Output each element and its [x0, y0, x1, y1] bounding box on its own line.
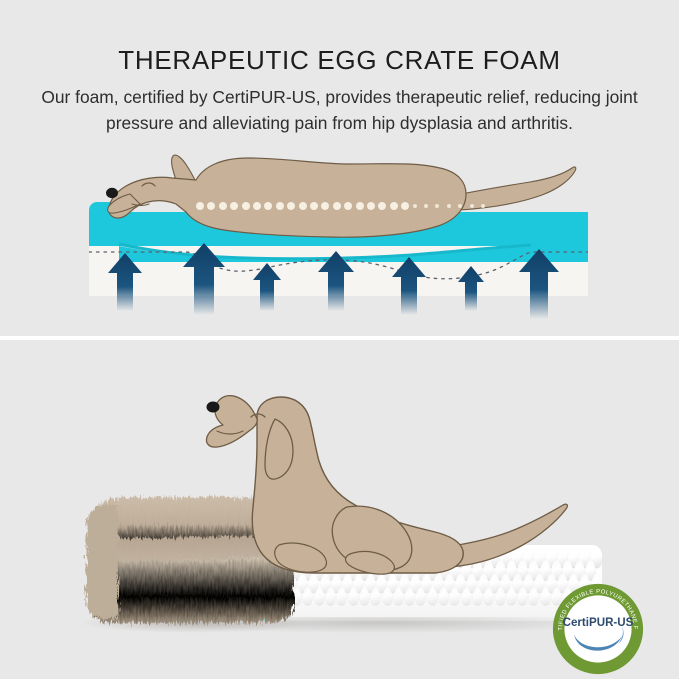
dog-resting-illustration [195, 395, 615, 610]
spine-dot [390, 202, 398, 210]
pressure-arrow-3 [253, 263, 281, 311]
spine-dot [242, 202, 250, 210]
spine-dot [458, 204, 462, 208]
bed-shadow [78, 617, 308, 633]
spine-dot [378, 202, 386, 210]
spine-dot [413, 204, 417, 208]
spine-dot [196, 202, 204, 210]
section-improved-ventilation: IMPROVED VENTILATION [0, 340, 679, 679]
dog-nose [106, 188, 118, 198]
spine-dot [470, 204, 474, 208]
pressure-arrow-1 [108, 253, 142, 311]
certipur-us-seal: CERTIFIED FLEXIBLE POLYURETHANE FOAM www… [552, 583, 644, 675]
pressure-arrow-6 [458, 266, 484, 311]
spine-dot [356, 202, 364, 210]
illustration-gel-foam-cross-section [0, 150, 679, 325]
page-title: THERAPEUTIC EGG CRATE FOAM [0, 45, 679, 76]
spine-dot [333, 202, 341, 210]
spine-dot [276, 202, 284, 210]
spine-dot [435, 204, 439, 208]
badge-center-text: CertiPUR-US [563, 617, 634, 629]
spine-dot [230, 202, 238, 210]
spine-dot [367, 202, 375, 210]
spine-dot [264, 202, 272, 210]
pressure-arrow-4 [318, 251, 354, 311]
spine-dot [481, 204, 485, 208]
spine-alignment-dots [196, 202, 496, 212]
spine-dot [401, 202, 409, 210]
spine-dot [344, 202, 352, 210]
spine-dot [310, 202, 318, 210]
spine-dot [321, 202, 329, 210]
infographic-page: THERAPEUTIC EGG CRATE FOAM Our foam, cer… [0, 0, 679, 679]
spine-dot [287, 202, 295, 210]
pressure-arrow-5 [392, 257, 426, 315]
pressure-arrow-2 [183, 243, 225, 315]
pressure-arrow-7 [519, 249, 559, 319]
spine-dot [253, 202, 261, 210]
subcopy-text: Our foam, certified by CertiPUR-US, prov… [26, 85, 653, 136]
dog-nose-bottom [207, 402, 220, 413]
spine-dot [207, 202, 215, 210]
spine-dot [299, 202, 307, 210]
section-therapeutic-foam: THERAPEUTIC EGG CRATE FOAM Our foam, cer… [0, 0, 679, 336]
spine-dot [447, 204, 451, 208]
spine-dot [219, 202, 227, 210]
spine-dot [424, 204, 428, 208]
